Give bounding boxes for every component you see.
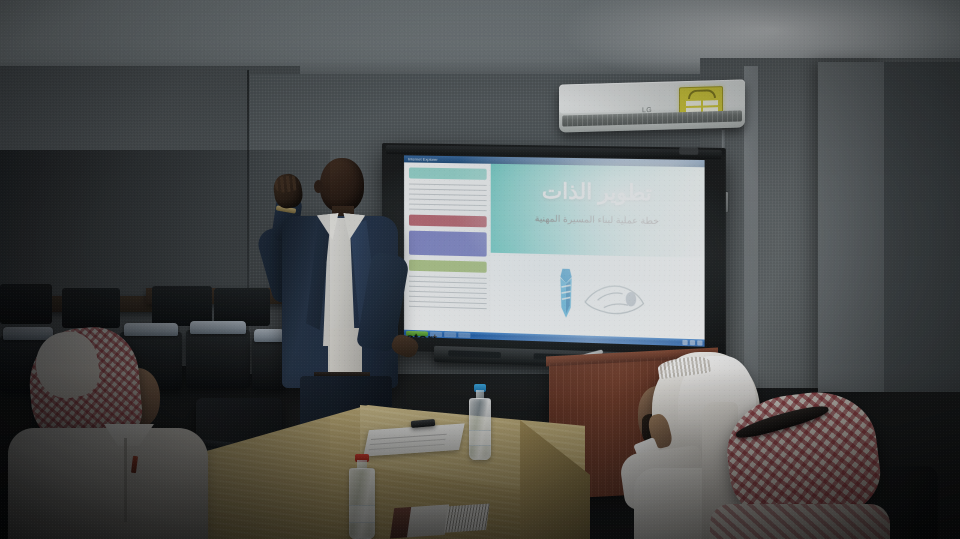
water-bottle-red-cap[interactable] — [349, 468, 375, 539]
slide-main-column: تطوير الذات خطة عملية لبناء المسيرة المه… — [491, 164, 705, 340]
booklet-pages — [444, 503, 490, 532]
ac-air-vent — [562, 110, 742, 126]
system-tray[interactable] — [682, 340, 702, 346]
water-bottle-blue-cap[interactable] — [469, 398, 491, 460]
taskbar-item[interactable] — [444, 332, 456, 337]
presenter-head — [320, 158, 364, 212]
attendee-left-placket — [124, 438, 127, 522]
attendee-left-thobe — [8, 428, 208, 539]
whiteboard-sensor-icon — [679, 147, 698, 154]
slide-subtitle: خطة عملية لبناء المسيرة المهنية — [491, 212, 705, 228]
slide-body — [491, 253, 705, 340]
wall-pillar-shadow — [884, 62, 960, 392]
slide-title: تطوير الذات — [491, 178, 705, 208]
attendee-foreground-shoulder — [710, 504, 890, 539]
training-room-photo: LG Internet Explorer تطوير الذات خطة عمل… — [0, 0, 960, 539]
booklet-cover — [407, 504, 449, 537]
presenter-ear — [314, 180, 323, 193]
bottle-body — [469, 398, 491, 460]
slide-header: تطوير الذات خطة عملية لبناء المسيرة المه… — [491, 164, 705, 258]
attendee-left — [8, 320, 218, 539]
bottle-label — [469, 430, 491, 446]
projected-web-page: تطوير الذات خطة عملية لبناء المسيرة المه… — [404, 162, 705, 339]
sticker-arch-icon — [688, 89, 716, 99]
air-conditioner-unit: LG — [559, 79, 745, 132]
necktie-icon — [558, 269, 573, 318]
chair-backrest[interactable] — [0, 284, 52, 324]
door-frame — [744, 66, 758, 386]
attendee-foreground-red-ghutra — [716, 388, 956, 539]
bottle-label — [349, 505, 375, 523]
projected-screen[interactable]: Internet Explorer تطوير الذات خطة عملية … — [404, 155, 705, 346]
taskbar-item[interactable] — [458, 332, 470, 337]
pen-slot — [448, 350, 501, 358]
handshake-icon — [583, 275, 648, 318]
bottle-body — [349, 468, 375, 539]
wall-pillar — [818, 62, 884, 392]
